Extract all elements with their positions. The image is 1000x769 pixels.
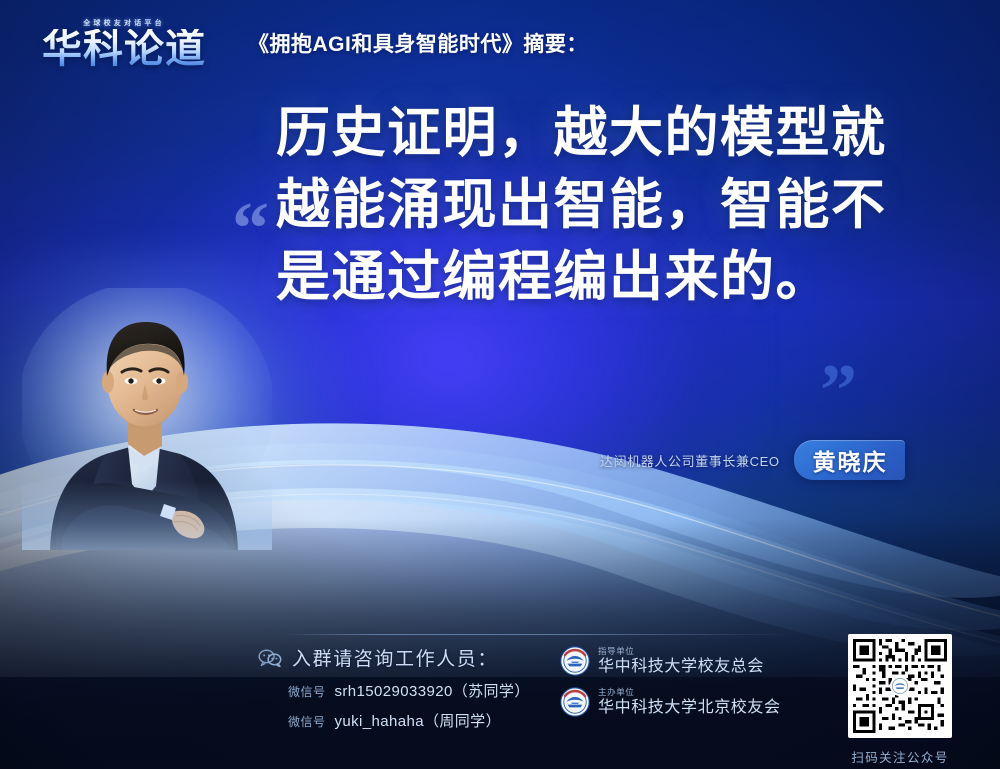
qr-block: 扫码关注公众号 [840, 634, 960, 766]
footer-divider [284, 634, 790, 635]
qr-center-logo [890, 676, 910, 696]
org-row: 主办单位 华中科技大学北京校友会 [560, 687, 810, 717]
qr-code[interactable] [848, 634, 952, 738]
org-text: 指导单位 华中科技大学校友总会 [598, 647, 764, 675]
speaker-portrait [22, 288, 272, 550]
org-kind: 指导单位 [598, 647, 764, 656]
org-name: 华中科技大学校友总会 [598, 659, 764, 675]
org-name: 华中科技大学北京校友会 [598, 700, 781, 716]
contact-heading: 入群请咨询工作人员： [258, 644, 578, 671]
contact-label: 微信号 [288, 713, 326, 730]
wechat-icon [258, 649, 282, 667]
contact-value: srh15029033920（苏同学） [335, 680, 530, 701]
logo-tagline: 全球校友对话平台 [83, 18, 165, 28]
attribution-block: 达闼机器人公司董事长兼CEO 黄晓庆 [600, 440, 905, 480]
quote-line: 历史证明，越大的模型就 [276, 98, 956, 170]
quote-open-mark: “ [232, 192, 269, 266]
speaker-name: 黄晓庆 [813, 443, 888, 477]
contact-block: 入群请咨询工作人员： 微信号 srh15029033920（苏同学） 微信号 y… [258, 644, 578, 731]
quote-line: 越能涌现出智能，智能不 [276, 170, 956, 242]
quote-text-block: 历史证明，越大的模型就 越能涌现出智能，智能不 是通过编程编出来的。 [276, 98, 956, 313]
contact-row: 微信号 yuki_hahaha（周同学） [288, 710, 578, 731]
speaker-role: 达闼机器人公司董事长兼CEO [600, 451, 780, 470]
university-seal-icon [560, 646, 590, 676]
quote-close-mark: ” [820, 354, 857, 428]
organizations-block: 指导单位 华中科技大学校友总会 主办单位 [560, 646, 810, 728]
poster-root: 全球校友对话平台 华科论道 《拥抱AGI和具身智能时代》摘要： “ 历史证明，越… [0, 0, 1000, 769]
speaker-name-badge: 黄晓庆 [794, 440, 905, 480]
org-text: 主办单位 华中科技大学北京校友会 [598, 688, 781, 716]
contact-row: 微信号 srh15029033920（苏同学） [288, 680, 578, 701]
org-row: 指导单位 华中科技大学校友总会 [560, 646, 810, 676]
university-seal-icon [560, 687, 590, 717]
logo-wordmark: 华科论道 [42, 29, 206, 69]
header-bar: 全球校友对话平台 华科论道 《拥抱AGI和具身智能时代》摘要： [0, 0, 1000, 86]
org-kind: 主办单位 [598, 688, 781, 697]
footer-section: 入群请咨询工作人员： 微信号 srh15029033920（苏同学） 微信号 y… [0, 644, 1000, 769]
contact-value: yuki_hahaha（周同学） [335, 710, 501, 731]
contact-label: 微信号 [288, 683, 326, 700]
qr-caption: 扫码关注公众号 [840, 747, 960, 766]
contact-title: 入群请咨询工作人员： [292, 644, 498, 671]
quote-line: 是通过编程编出来的。 [276, 242, 956, 314]
page-title: 《拥抱AGI和具身智能时代》摘要： [248, 28, 588, 58]
brand-logo: 全球校友对话平台 华科论道 [26, 12, 222, 74]
